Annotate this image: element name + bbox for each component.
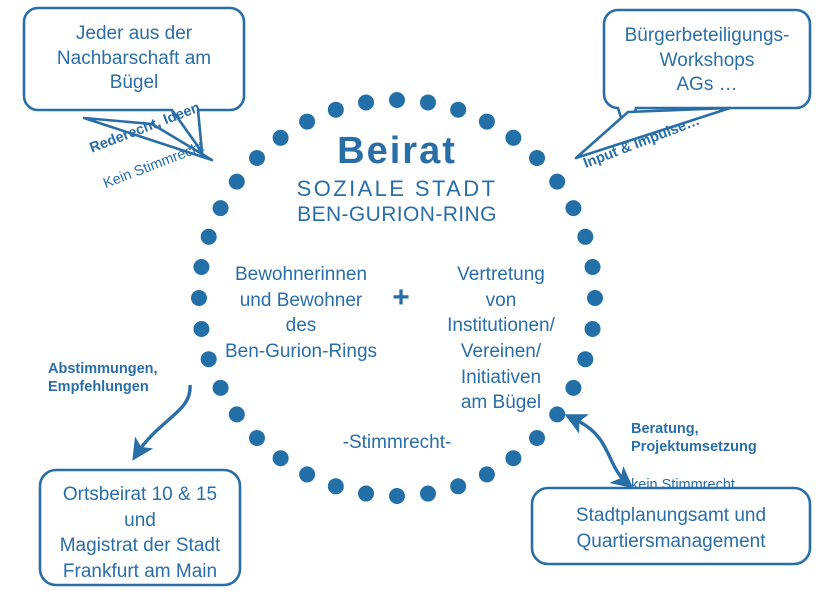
ring-dot (229, 174, 245, 190)
ring-dot (450, 478, 466, 494)
ring-dot (213, 200, 229, 216)
ring-dot (479, 114, 495, 130)
ring-dot (420, 486, 436, 502)
bubble-top-right-text: Bürgerbeteiligungs- Workshops AGs … (604, 24, 810, 98)
ring-dot (213, 380, 229, 396)
ring-dot (328, 478, 344, 494)
ring-subtitle-ben-gurion-ring: BEN-GURION-RING (247, 203, 547, 226)
ring-dot (249, 430, 265, 446)
ring-dot (389, 92, 405, 108)
arrow-ring-to-stadtplanungsamt (578, 421, 628, 484)
ring-dot (587, 290, 603, 306)
ring-dot (389, 488, 405, 504)
ring-dot (193, 321, 209, 337)
ring-dot (328, 102, 344, 118)
ring-dot (229, 406, 245, 422)
ring-dot (299, 466, 315, 482)
ring-footer-stimmrecht: -Stimmrecht- (297, 431, 497, 455)
ring-subtitle-soziale-stadt: SOZIALE STADT (247, 177, 547, 201)
ring-dot (201, 229, 217, 245)
plus-icon: + (389, 283, 413, 313)
ring-dot (420, 94, 436, 110)
diagram-canvas: Jeder aus der Nachbarschaft am Bügel Bür… (0, 0, 820, 600)
ring-title: Beirat (247, 132, 547, 170)
ring-right-column: Vertretung von Institutionen/ Vereinen/ … (413, 262, 589, 416)
label-abstimmungen-empfehlungen: Abstimmungen, Empfehlungen (48, 360, 158, 396)
ring-dot (577, 229, 593, 245)
ring-dot (479, 466, 495, 482)
bubble-top-left-text: Jeder aus der Nachbarschaft am Bügel (24, 22, 244, 96)
ring-dot (273, 450, 289, 466)
ring-dot (193, 259, 209, 275)
label-beratung-group: Beratung, Projektumsetzung kein Stimmrec… (631, 400, 757, 514)
ring-dot (191, 290, 207, 306)
ring-dot (358, 94, 374, 110)
ring-dot (565, 200, 581, 216)
box-bottom-left-text: Ortsbeirat 10 & 15 und Magistrat der Sta… (40, 482, 240, 585)
ring-dot (505, 450, 521, 466)
ring-dot (529, 430, 545, 446)
ring-dot (299, 114, 315, 130)
ring-dot (549, 174, 565, 190)
label-kein-stimmrecht-bottom: kein Stimmrecht (631, 476, 757, 494)
ring-dot (358, 486, 374, 502)
label-beratung-projektumsetzung: Beratung, Projektumsetzung (631, 420, 757, 456)
ring-dot (450, 102, 466, 118)
ring-left-column: Bewohnerinnen und Bewohner des Ben-Gurio… (213, 262, 389, 365)
